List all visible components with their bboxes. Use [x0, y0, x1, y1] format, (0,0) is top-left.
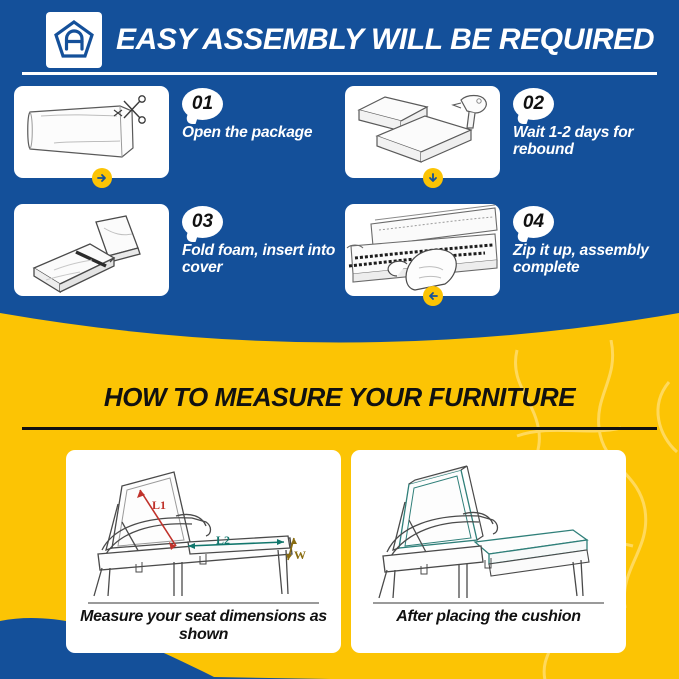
step-label: Zip it up, assembly complete — [513, 242, 673, 277]
dimension-label-l1: L1 — [152, 498, 166, 513]
arrow-left-icon — [423, 286, 443, 306]
step-number-badge: 01 — [182, 88, 223, 120]
step-number-badge: 04 — [513, 206, 554, 238]
dimension-label-w: W — [294, 548, 306, 563]
step-label: Wait 1-2 days for rebound — [513, 124, 673, 159]
arrow-down-icon — [423, 168, 443, 188]
header-divider — [22, 72, 657, 75]
card-divider — [88, 602, 319, 604]
dimension-label-l2: L2 — [216, 533, 230, 548]
measure-card-cushion: After placing the cushion — [351, 450, 626, 653]
step-item-02: 02 Wait 1-2 days for rebound — [345, 86, 675, 198]
step-number-badge: 03 — [182, 206, 223, 238]
folded-foam-into-cover-icon — [14, 204, 169, 296]
assembly-section: EASY ASSEMBLY WILL BE REQUIRED — [0, 0, 679, 365]
step-item-03: 03 Fold foam, insert into cover — [14, 204, 344, 316]
measure-title-divider — [22, 427, 657, 430]
foam-cushions-hairdryer-icon — [345, 86, 500, 178]
package-with-scissors-icon — [14, 86, 169, 178]
card-caption: After placing the cushion — [351, 608, 626, 626]
step-item-04: 04 Zip it up, assembly complete — [345, 204, 675, 316]
step-label: Open the package — [182, 124, 342, 141]
assembly-steps-grid: 01 Open the package — [0, 86, 679, 318]
hand-zipping-cushion-icon — [345, 204, 500, 296]
arrow-right-icon — [92, 168, 112, 188]
measure-cards: L1 L2 W Measure your seat dimensions as … — [0, 450, 679, 660]
page-title: EASY ASSEMBLY WILL BE REQUIRED — [116, 23, 654, 57]
step-label: Fold foam, insert into cover — [182, 242, 342, 277]
step-number-badge: 02 — [513, 88, 554, 120]
card-caption: Measure your seat dimensions as shown — [66, 608, 341, 644]
step-text-04: 04 Zip it up, assembly complete — [513, 204, 673, 277]
measure-section-title: HOW TO MEASURE YOUR FURNITURE — [0, 382, 679, 413]
house-pentagon-logo-icon — [46, 12, 102, 68]
measure-card-dimensions: L1 L2 W Measure your seat dimensions as … — [66, 450, 341, 653]
chaise-lounge-with-dimensions-icon: L1 L2 W — [66, 450, 341, 602]
step-text-03: 03 Fold foam, insert into cover — [182, 204, 342, 277]
step-item-01: 01 Open the package — [14, 86, 344, 198]
step-text-01: 01 Open the package — [182, 86, 342, 141]
header: EASY ASSEMBLY WILL BE REQUIRED — [0, 0, 679, 80]
card-divider — [373, 602, 604, 604]
assembly-instructions-infographic: EASY ASSEMBLY WILL BE REQUIRED — [0, 0, 679, 679]
step-text-02: 02 Wait 1-2 days for rebound — [513, 86, 673, 159]
chaise-lounge-with-cushion-icon — [351, 450, 626, 602]
